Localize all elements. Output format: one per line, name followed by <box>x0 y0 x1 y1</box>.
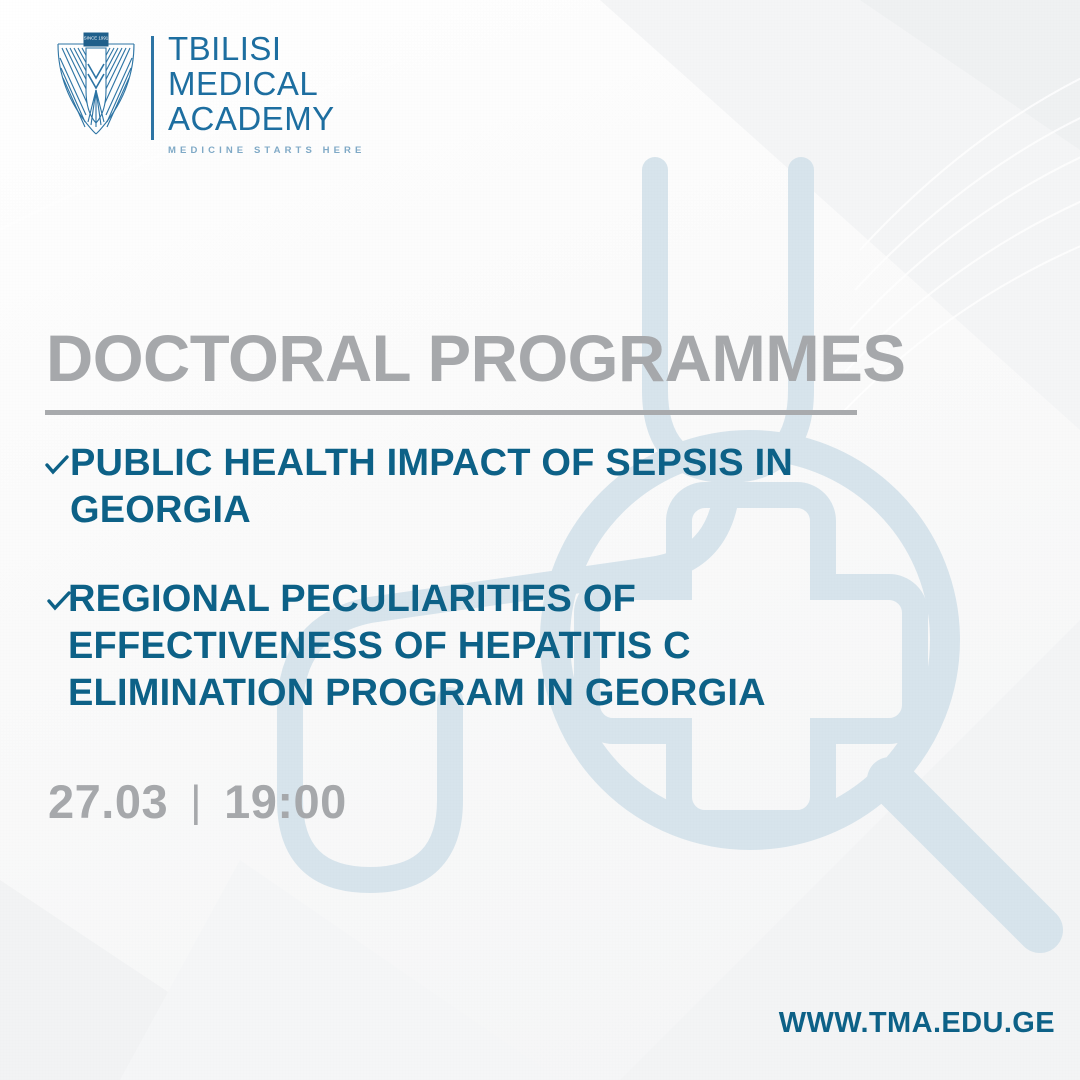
event-datetime: 27.03 | 19:00 <box>48 778 347 825</box>
poster-canvas: SINCE 1991 TBILISI MEDICAL ACADEMY MEDIC… <box>0 0 1080 1080</box>
list-item: PUBLIC HEALTH IMPACT OF SEPSIS IN GEORGI… <box>44 440 904 534</box>
programme-list: PUBLIC HEALTH IMPACT OF SEPSIS IN GEORGI… <box>44 440 904 759</box>
winged-crest-icon: SINCE 1991 <box>55 30 137 140</box>
page-title: DOCTORAL PROGRAMMES <box>46 325 905 391</box>
programme-title: PUBLIC HEALTH IMPACT OF SEPSIS IN GEORGI… <box>70 440 870 534</box>
website-url[interactable]: WWW.TMA.EDU.GE <box>779 1007 1055 1040</box>
logo-vertical-divider <box>151 36 154 140</box>
list-item: REGIONAL PECULIARITIES OF EFFECTIVENESS … <box>44 576 904 717</box>
title-divider-rule <box>45 410 857 415</box>
datetime-separator: | <box>190 778 202 825</box>
brand-tagline: MEDICINE STARTS HERE <box>168 145 365 156</box>
brand-wordmark: TBILISI MEDICAL ACADEMY MEDICINE STARTS … <box>168 30 365 156</box>
brand-line-3: ACADEMY <box>168 102 365 135</box>
check-tick-icon <box>44 454 70 480</box>
brand-logo: SINCE 1991 TBILISI MEDICAL ACADEMY MEDIC… <box>55 30 365 156</box>
event-date: 27.03 <box>48 778 168 825</box>
brand-line-1: TBILISI <box>168 32 365 65</box>
programme-title: REGIONAL PECULIARITIES OF EFFECTIVENESS … <box>68 576 848 717</box>
brand-line-2: MEDICAL <box>168 67 365 100</box>
crest-badge-label: SINCE 1991 <box>84 35 109 40</box>
event-time: 19:00 <box>224 778 347 825</box>
